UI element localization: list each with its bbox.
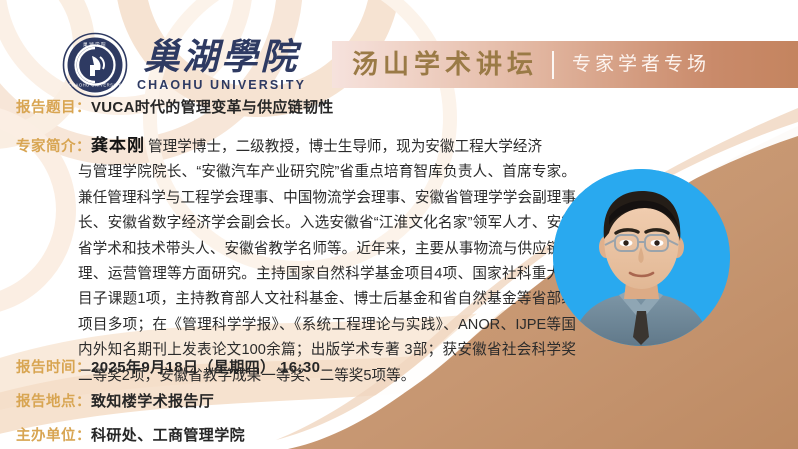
report-location-label: 报告地点： <box>16 392 91 413</box>
expert-name: 龚本刚 <box>91 131 145 156</box>
poster-header: CHAOHU UNIVERSITY 巢湖学院 巢湖學院 CHAOHU UNIVE… <box>0 0 798 96</box>
university-logo: CHAOHU UNIVERSITY 巢湖学院 巢湖學院 CHAOHU UNIVE… <box>62 32 306 98</box>
expert-bio-lead: 管理学博士，二级教授，博士生导师，现为安徽工程大学经济 <box>148 135 542 160</box>
report-organizer-row: 主办单位： 科研处、工商管理学院 <box>16 425 245 447</box>
report-time-value: 2025年9月18日（星期四） 16:30 <box>91 357 320 378</box>
banner-main-title: 汤山学术讲坛 <box>352 50 538 80</box>
report-time-row: 报告时间： 2025年9月18日（星期四） 16:30 <box>16 357 320 379</box>
expert-bio-label: 专家简介： <box>16 137 91 158</box>
university-name-en: CHAOHU UNIVERSITY <box>137 78 306 93</box>
lecture-poster: CHAOHU UNIVERSITY 巢湖学院 巢湖學院 CHAOHU UNIVE… <box>0 0 798 449</box>
lecture-series-banner: 汤山学术讲坛 专家学者专场 <box>332 41 798 88</box>
banner-subtitle: 专家学者专场 <box>572 54 710 76</box>
banner-divider <box>552 51 554 79</box>
svg-text:巢湖学院: 巢湖学院 <box>83 41 107 48</box>
university-name-cn: 巢湖學院 <box>144 37 300 77</box>
report-location-row: 报告地点： 致知楼学术报告厅 <box>16 391 214 413</box>
expert-bio-text: 与管理学院院长、“安徽汽车产业研究院”省重点培育智库负责人、首席专家。兼任管理科… <box>16 160 576 389</box>
report-organizer-label: 主办单位： <box>16 426 91 447</box>
speaker-portrait <box>553 169 730 346</box>
report-title-label: 报告题目： <box>16 98 91 119</box>
chaohu-university-seal-icon: CHAOHU UNIVERSITY 巢湖学院 <box>62 32 128 98</box>
report-location-value: 致知楼学术报告厅 <box>91 391 214 412</box>
report-title-row: 报告题目： VUCA时代的管理变革与供应链韧性 <box>16 97 334 119</box>
report-organizer-value: 科研处、工商管理学院 <box>91 425 245 446</box>
svg-text:CHAOHU UNIVERSITY: CHAOHU UNIVERSITY <box>69 83 122 88</box>
report-title-value: VUCA时代的管理变革与供应链韧性 <box>91 97 334 118</box>
expert-bio-first-line: 专家简介： 龚本刚 管理学博士，二级教授，博士生导师，现为安徽工程大学经济 <box>16 131 576 160</box>
report-time-label: 报告时间： <box>16 358 91 379</box>
expert-bio-block: 专家简介： 龚本刚 管理学博士，二级教授，博士生导师，现为安徽工程大学经济 与管… <box>16 131 576 389</box>
